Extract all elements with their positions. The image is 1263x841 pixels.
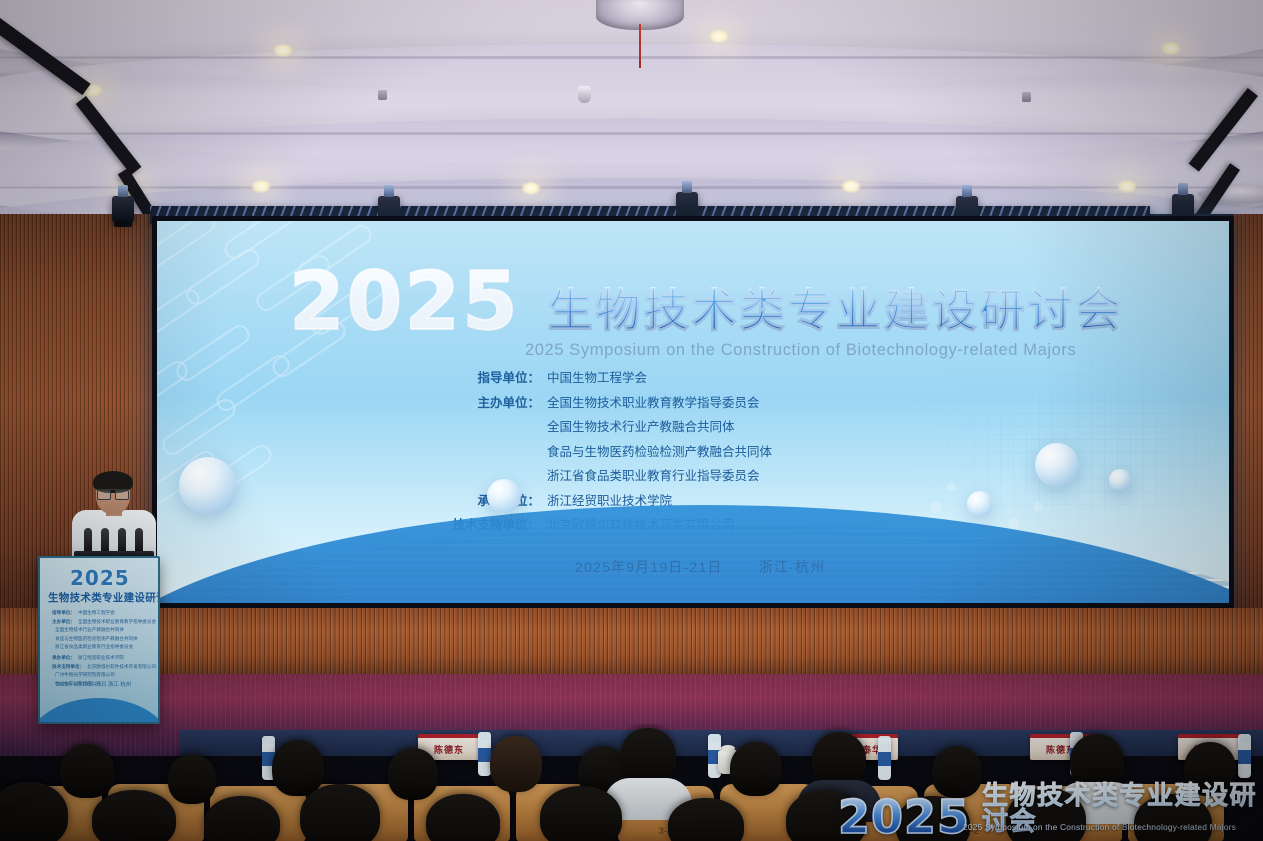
organizer-value: 全国生物技术职业教育教学指导委员会 xyxy=(547,392,760,411)
podium-row: 技术支持单位： 北京欧倍尔软件技术开发有限公司 xyxy=(52,664,152,670)
podium-value: 中国生物工程学会 xyxy=(78,610,115,616)
organizer-row: 浙江省食品类职业教育行业指导委员会 xyxy=(409,465,772,484)
podium-row: 指导单位： 中国生物工程学会 xyxy=(52,610,152,616)
ceiling-downlight xyxy=(250,180,272,194)
podium-value: 浙江省食品类职业教育行业指导委员会 xyxy=(55,644,133,650)
organizer-label: 主办单位： xyxy=(409,392,547,411)
podium-wave-blue xyxy=(38,698,160,724)
ceiling-seam xyxy=(0,186,1263,189)
audience-head xyxy=(272,740,324,796)
organizer-row: 指导单位： 中国生物工程学会 xyxy=(409,367,772,386)
ceiling-air-diffuser xyxy=(596,0,684,30)
audience-head xyxy=(168,754,216,804)
decorative-sphere xyxy=(179,457,237,515)
organizer-label: 承办单位： xyxy=(409,490,547,509)
audience-head xyxy=(92,790,176,841)
screen-date-line: 2025年9月19日-21日 浙江·杭州 xyxy=(575,557,825,577)
decorative-sphere xyxy=(967,491,993,517)
audience-head xyxy=(388,748,438,800)
screen-title-row: 2025 生物技术类专业建设研讨会 xyxy=(289,265,1124,339)
podium-row: 承办单位： 浙江经贸职业技术学院 xyxy=(52,655,152,661)
podium-key: 主办单位： xyxy=(52,619,75,625)
ceiling-downlight xyxy=(1160,42,1182,56)
screen-content: 2025 生物技术类专业建设研讨会 2025 Symposium on the … xyxy=(157,221,1229,603)
podium-value: 广州牛顿光学研究院有限公司 xyxy=(55,672,115,678)
podium-row: 主办单位： 全国生物技术职业教育教学指导委员会 xyxy=(52,619,152,625)
audience-head xyxy=(426,794,500,841)
organizer-row: 主办单位： 全国生物技术职业教育教学指导委员会 xyxy=(409,392,772,411)
decorative-sphere xyxy=(1035,443,1079,487)
microphone-icon xyxy=(101,528,109,552)
podium-row: 广州牛顿光学研究院有限公司 xyxy=(52,672,152,678)
sprinkler-head-icon xyxy=(578,86,591,103)
podium-row: 食品与生物医药检验检测产教融合共同体 xyxy=(52,636,152,642)
audience-head xyxy=(300,784,380,841)
stage-par-light xyxy=(676,192,698,218)
podium-value: 食品与生物医药检验检测产教融合共同体 xyxy=(55,636,138,642)
wood-slat-wall-right xyxy=(1233,214,1263,634)
watermark-title-en: 2025 Symposium on the Construction of Bi… xyxy=(963,822,1236,832)
ceiling-downlight xyxy=(1116,180,1138,194)
audience-head xyxy=(668,798,744,841)
screen-date: 2025年9月19日-21日 xyxy=(575,559,723,575)
glasses-icon xyxy=(97,489,129,497)
ceiling-downlight xyxy=(840,180,862,194)
podium-value: 北京欧倍尔软件技术开发有限公司 xyxy=(87,664,156,670)
screen-year: 2025 xyxy=(289,265,520,339)
screen-location: 浙江·杭州 xyxy=(759,559,826,575)
ceiling-downlight xyxy=(520,182,542,196)
podium-row: 浙江省食品类职业教育行业指导委员会 xyxy=(52,644,152,650)
organizer-value: 中国生物工程学会 xyxy=(547,367,647,386)
podium-key: 承办单位： xyxy=(52,655,75,661)
podium-key: 指导单位： xyxy=(52,610,75,616)
organizer-row: 食品与生物医药检验检测产教融合共同体 xyxy=(409,441,772,460)
microphone-icon xyxy=(135,528,143,552)
audience-head xyxy=(540,786,622,841)
decorative-sphere xyxy=(1109,469,1131,491)
podium-row: 全国生物技术行业产教融合共同体 xyxy=(52,627,152,633)
screen-title-en: 2025 Symposium on the Construction of Bi… xyxy=(525,341,1076,360)
corner-watermark-logo: 2025 生物技术类专业建设研讨会 2025 Symposium on the … xyxy=(838,782,1258,840)
podium-date: 2025年9月19日-21日 浙江·杭州 xyxy=(56,680,131,688)
organizer-value: 食品与生物医药检验检测产教融合共同体 xyxy=(547,441,772,460)
conference-hall-photo: 2025 生物技术类专业建设研讨会 2025 Symposium on the … xyxy=(0,0,1263,841)
organizer-row: 全国生物技术行业产教融合共同体 xyxy=(409,416,772,435)
stage-wood-wall xyxy=(0,608,1263,674)
podium-sign: 2025 生物技术类专业建设研讨会 指导单位： 中国生物工程学会 主办单位： 全… xyxy=(38,556,160,724)
audience-head xyxy=(620,728,676,786)
ceiling-seam xyxy=(0,56,1263,59)
podium-key: 技术支持单位： xyxy=(52,664,84,670)
ceiling-seam xyxy=(0,132,1263,135)
name-placard-text: 陈德东 xyxy=(434,743,464,756)
organizer-value: 浙江省食品类职业教育行业指导委员会 xyxy=(547,465,760,484)
microphone-icon xyxy=(118,528,126,552)
water-bottle xyxy=(878,736,891,780)
microphone-icon xyxy=(84,528,92,552)
led-display-screen: 2025 生物技术类专业建设研讨会 2025 Symposium on the … xyxy=(152,216,1234,608)
stage-par-light xyxy=(112,196,134,222)
watermark-year: 2025 xyxy=(838,797,970,837)
ceiling-downlight xyxy=(708,30,730,44)
podium-organizer-lines: 指导单位： 中国生物工程学会 主办单位： 全国生物技术职业教育教学指导委员会 全… xyxy=(52,610,152,689)
podium-title-cn: 生物技术类专业建设研讨会 xyxy=(48,590,160,605)
podium-value: 全国生物技术行业产教融合共同体 xyxy=(55,627,124,633)
screen-title-cn: 生物技术类专业建设研讨会 xyxy=(548,288,1124,339)
microphone-cluster xyxy=(74,524,154,560)
ceiling-downlight xyxy=(272,44,294,58)
smoke-detector-icon xyxy=(378,90,387,100)
podium-value: 全国生物技术职业教育教学指导委员会 xyxy=(78,619,156,625)
organizer-value: 全国生物技术行业产教融合共同体 xyxy=(547,416,735,435)
water-bottle xyxy=(1238,734,1251,778)
organizer-label: 指导单位： xyxy=(409,367,547,386)
podium-sign-face: 2025 生物技术类专业建设研讨会 指导单位： 中国生物工程学会 主办单位： 全… xyxy=(40,558,158,722)
podium-year: 2025 xyxy=(70,566,130,590)
smoke-detector-icon xyxy=(1022,92,1031,102)
podium-value: 浙江经贸职业技术学院 xyxy=(78,655,124,661)
audience-head xyxy=(812,732,866,788)
audience-head xyxy=(490,736,542,792)
audience-head xyxy=(204,796,280,841)
ceiling xyxy=(0,0,1263,232)
decorative-sphere xyxy=(487,479,521,513)
audience-head xyxy=(60,744,114,798)
audience-head xyxy=(730,742,782,796)
